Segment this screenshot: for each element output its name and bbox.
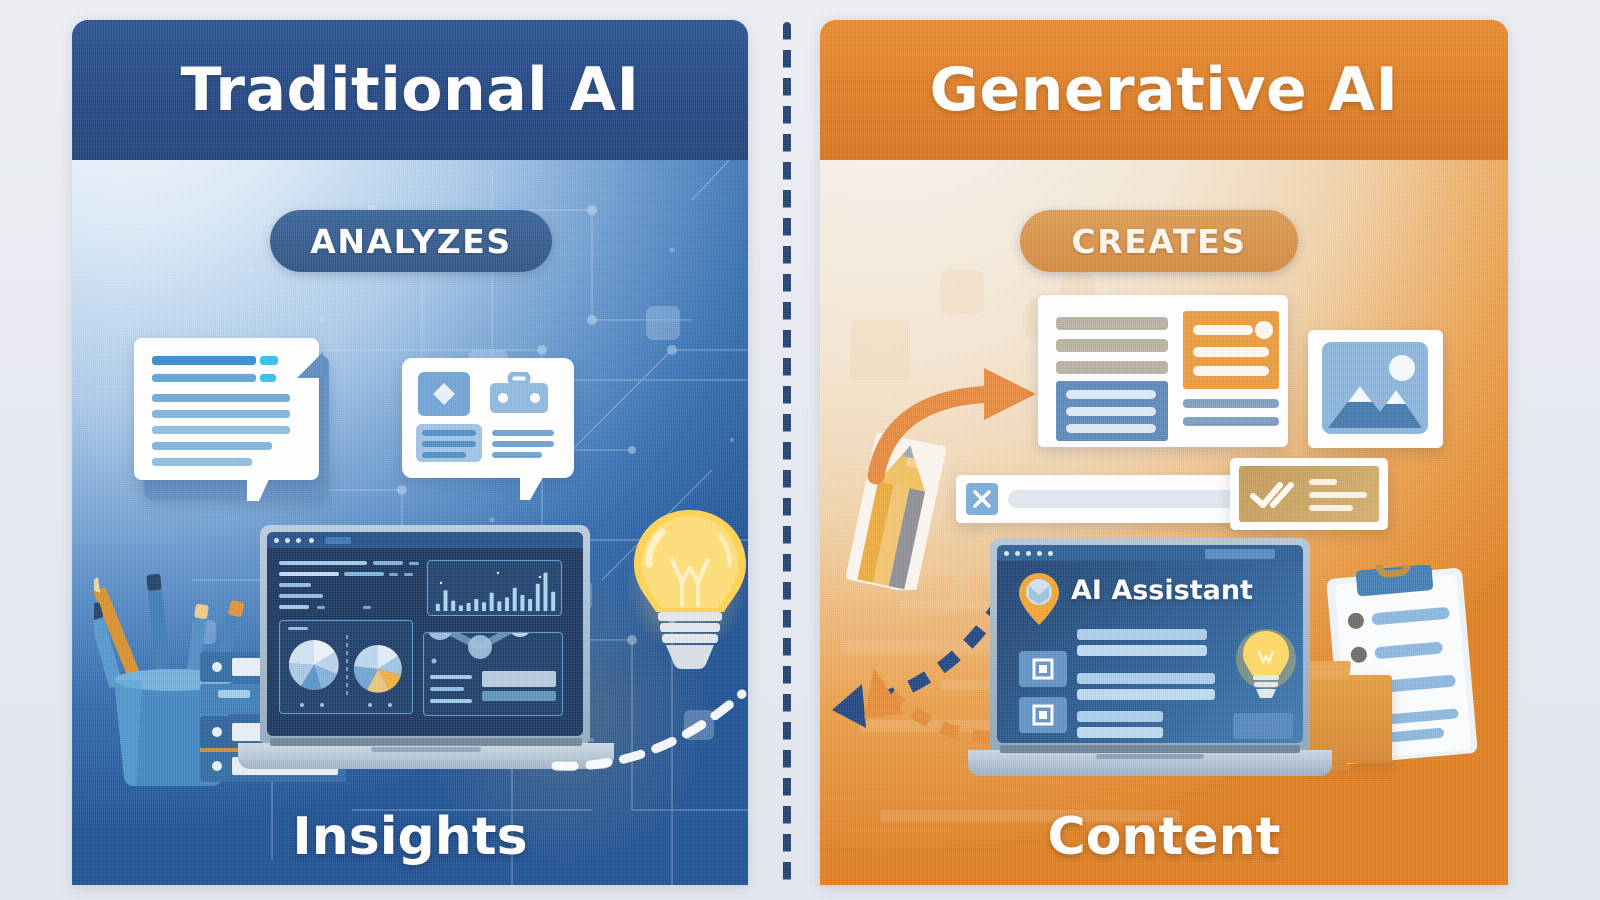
shuffle-icon-tile [966, 483, 998, 515]
right-footer-label: Content [820, 807, 1508, 867]
dashed-flow-arc [546, 670, 748, 780]
profile-card-speech-tail [520, 472, 546, 500]
ai-pin-avatar-icon [1017, 571, 1061, 627]
bar [528, 599, 532, 611]
bar [444, 590, 448, 611]
laptop-trackpad-right [1096, 754, 1204, 759]
pie-charts-svg [280, 621, 414, 715]
bar-chart-widget [427, 560, 562, 616]
panel-divider [783, 22, 791, 884]
diamond-icon-tile [418, 372, 470, 416]
trend-node-widget [423, 632, 563, 716]
blue-block [1056, 381, 1168, 441]
bar [436, 604, 440, 611]
page-title-right: Generative AI [930, 55, 1399, 125]
ai-assistant-title: AI Assistant [1071, 575, 1253, 606]
lightbulb-svg [620, 502, 748, 682]
double-check-icon [1249, 479, 1301, 511]
generative-ai-header: Generative AI [820, 20, 1508, 160]
screen-title-bar [267, 532, 583, 548]
window-tab [325, 537, 351, 544]
screen-title-bar-right [997, 545, 1303, 561]
window-dot [1015, 551, 1020, 556]
laptop-lid [260, 525, 590, 743]
laptop-keyboard-right [1000, 745, 1300, 753]
pie-chart-widget [279, 620, 413, 714]
diamond-icon [418, 372, 470, 416]
square-icon-tile [1019, 651, 1067, 687]
square-icon-tile [1019, 697, 1067, 733]
bar [474, 599, 478, 611]
profile-card [402, 358, 574, 478]
bar [513, 588, 517, 611]
bar [505, 597, 509, 611]
shuffle-icon [966, 483, 998, 515]
creates-badge-label: CREATES [1071, 222, 1246, 261]
node-trend-svg [424, 633, 564, 717]
bar [551, 592, 555, 611]
square-outline-icon [1019, 697, 1067, 733]
analyzes-badge-label: ANALYZES [310, 222, 512, 261]
orange-block [1183, 311, 1279, 389]
bar [451, 601, 455, 611]
page-title-left: Traditional AI [181, 55, 640, 125]
ai-assistant-screen: AI Assistant [997, 545, 1303, 743]
creates-badge[interactable]: CREATES [1020, 210, 1298, 272]
window-dot [309, 538, 314, 543]
window-dot [296, 538, 301, 543]
bar [520, 595, 524, 611]
bar-chart-svg [428, 561, 563, 617]
document-speech-tail [247, 475, 271, 501]
bar [497, 601, 501, 611]
laptop-base-right [968, 750, 1332, 776]
infographic-canvas: Traditional AI ANALYZES [0, 0, 1600, 900]
article-layout-card [1038, 295, 1288, 447]
report-document-card [134, 338, 319, 480]
idea-lightbulb-small [1235, 625, 1297, 705]
bar [490, 593, 494, 611]
generative-ai-panel: Generative AI CREATES [820, 20, 1508, 885]
bar [543, 573, 547, 611]
window-dot [1026, 551, 1031, 556]
traditional-ai-panel: Traditional AI ANALYZES [72, 20, 748, 885]
left-footer-label: Insights [72, 807, 748, 867]
window-dot [1037, 551, 1042, 556]
mountain-image-icon [1322, 342, 1428, 434]
bar [536, 584, 540, 611]
window-dot [1004, 551, 1009, 556]
laptop-screen [267, 532, 583, 736]
generation-arrow-curved [836, 358, 1056, 488]
approved-checklist-card [1230, 458, 1388, 530]
image-placeholder-card [1308, 330, 1443, 448]
bar [482, 602, 486, 611]
window-dot [1048, 551, 1053, 556]
window-dot [285, 538, 290, 543]
document-folded-corner [297, 352, 323, 378]
laptop-trackpad [371, 747, 481, 752]
window-dot [274, 538, 279, 543]
traditional-ai-header: Traditional AI [72, 20, 748, 160]
window-tab [1205, 549, 1275, 559]
briefcase-icon [488, 372, 550, 416]
laptop-keyboard [270, 738, 582, 746]
square-outline-icon [1019, 651, 1067, 687]
analyzes-badge[interactable]: ANALYZES [270, 210, 552, 272]
bar [467, 603, 471, 611]
laptop-lid-right: AI Assistant [990, 538, 1310, 750]
bar [459, 605, 463, 611]
